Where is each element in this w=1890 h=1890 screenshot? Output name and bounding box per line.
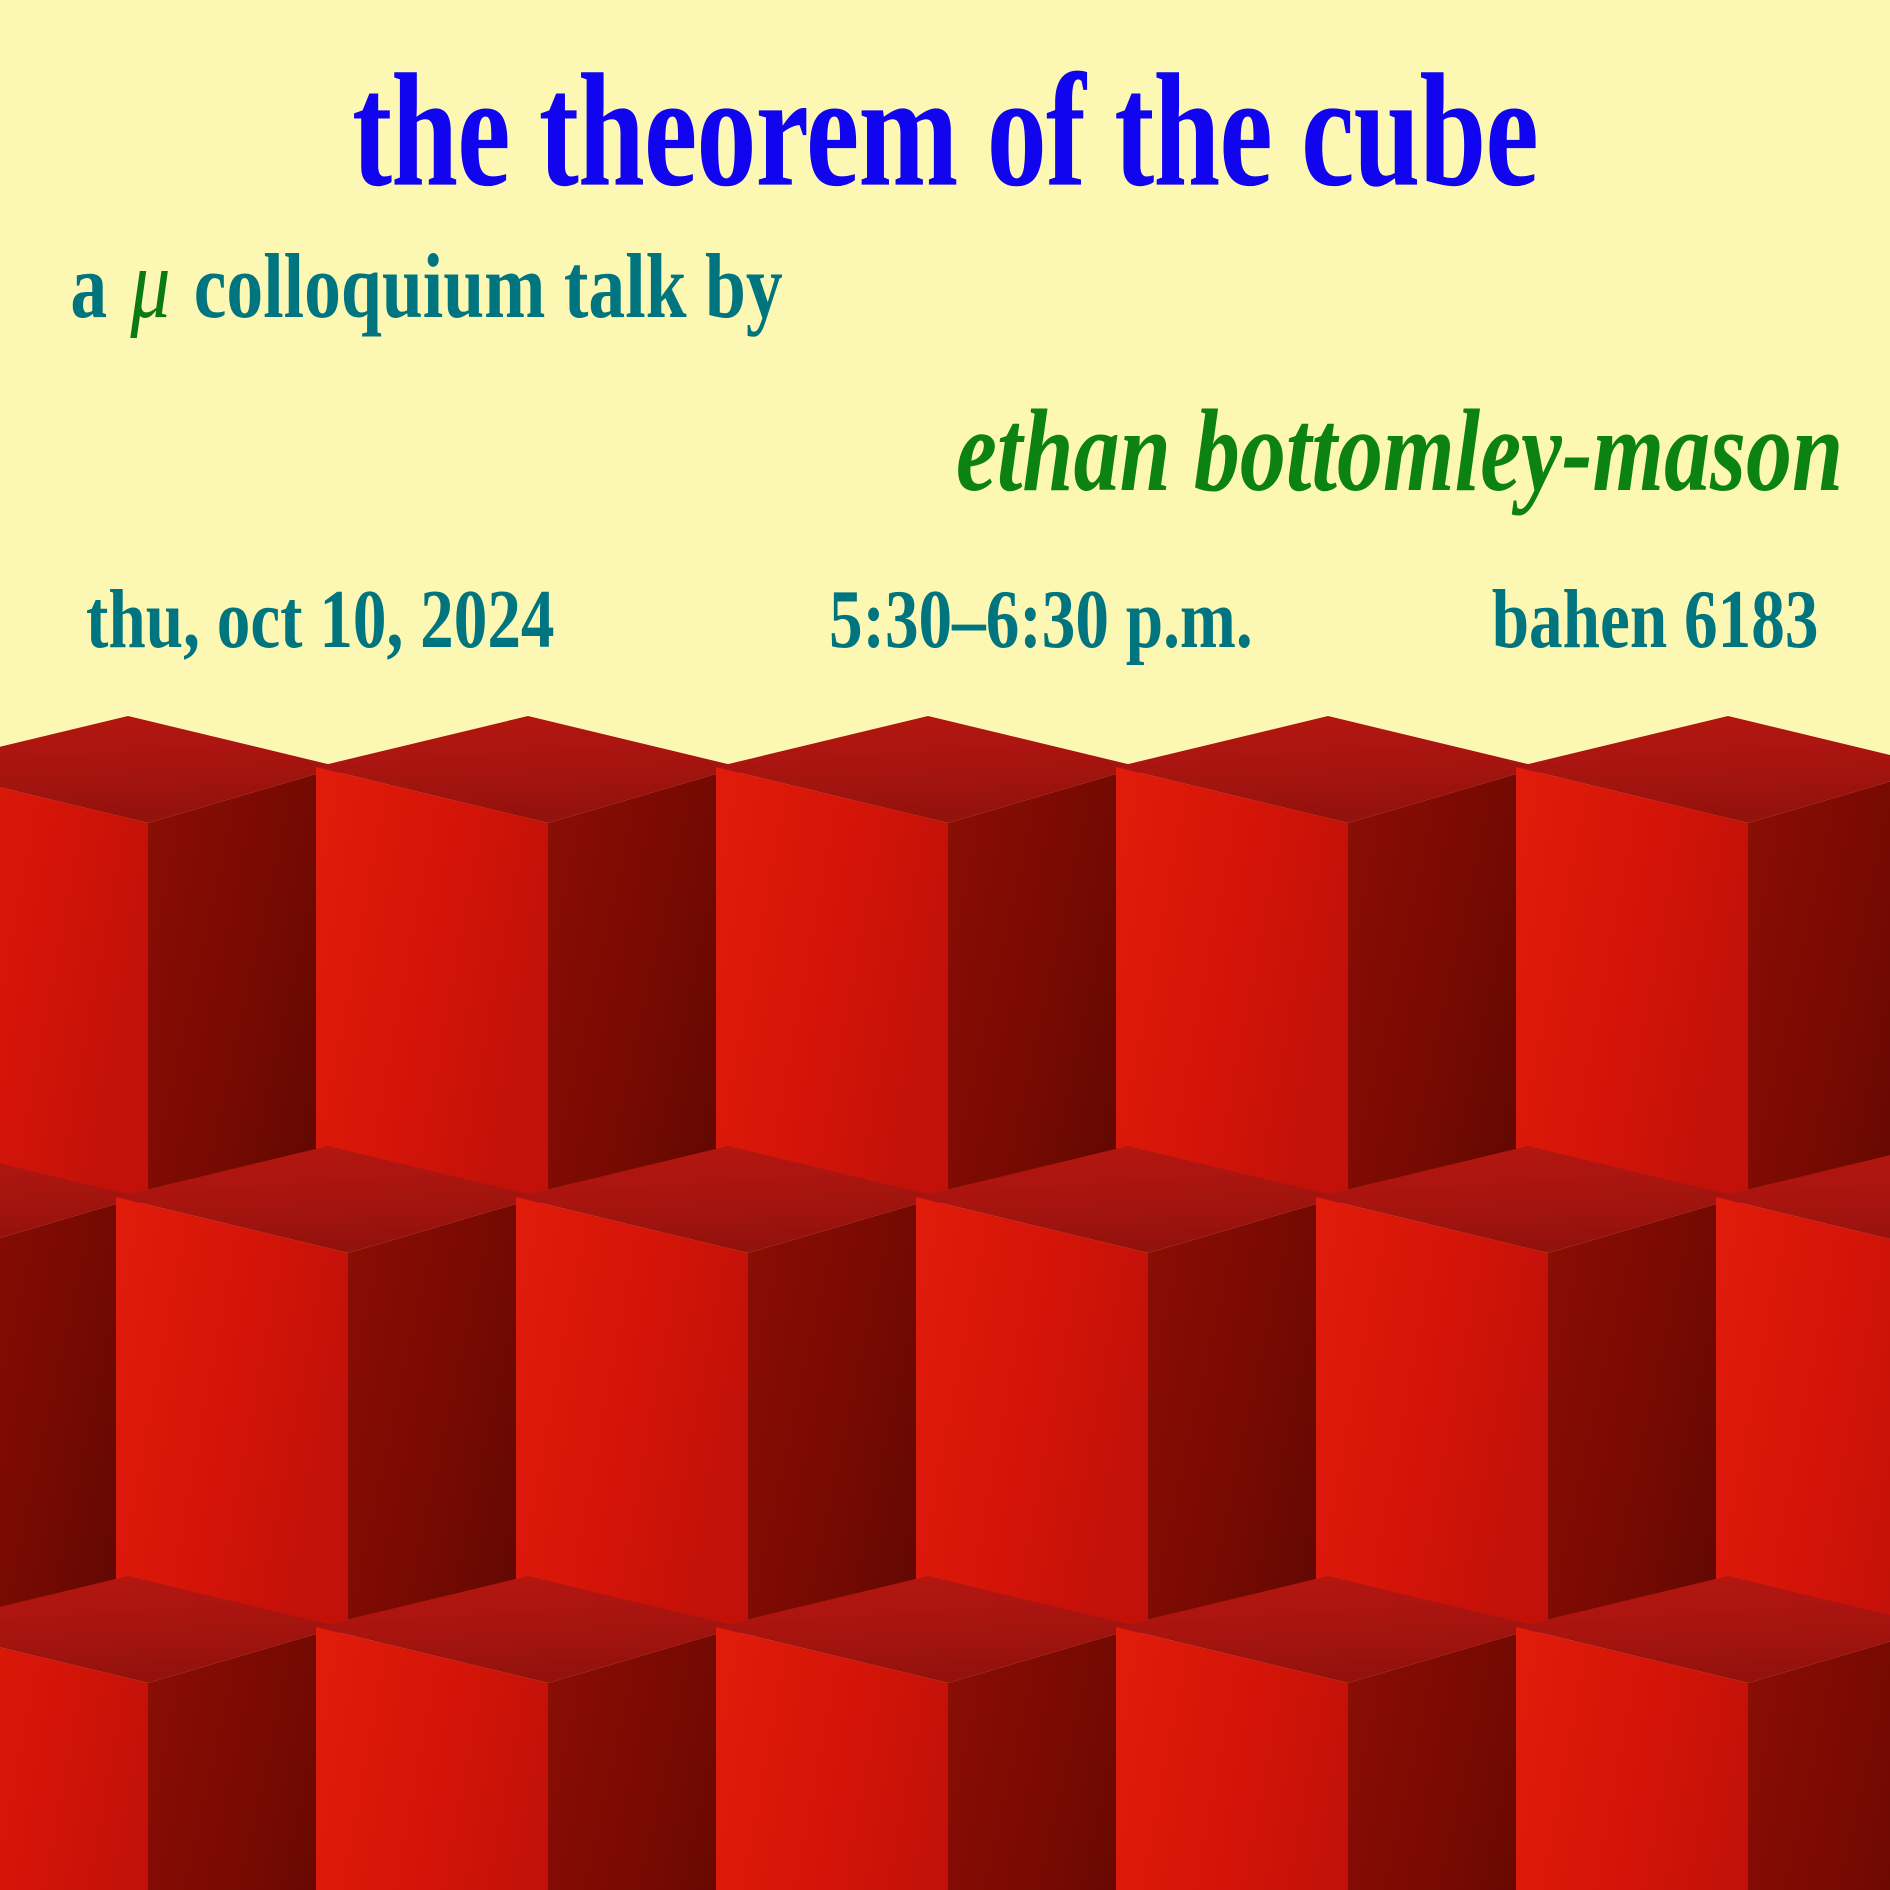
cube-face-right [148, 767, 340, 1203]
cube [716, 1576, 1140, 1890]
cube-face-left [116, 1197, 348, 1633]
cube [0, 716, 340, 1203]
cube [716, 716, 1140, 1203]
cube-face-left [716, 767, 948, 1203]
cube-face-left [516, 1197, 748, 1633]
cube-face-right [748, 1197, 940, 1633]
cube [1516, 716, 1890, 1203]
cube-face-left [1716, 1197, 1890, 1633]
event-date: thu, oct 10, 2024 [86, 578, 555, 662]
cube [116, 1146, 540, 1633]
event-details-row: thu, oct 10, 2024 5:30–6:30 p.m. bahen 6… [0, 510, 1890, 662]
cube [1716, 1146, 1890, 1633]
cube-face-left [316, 767, 548, 1203]
cube [1316, 1146, 1740, 1633]
cube-face-right [1548, 1197, 1740, 1633]
cube [316, 1576, 740, 1890]
cube [516, 1146, 940, 1633]
subtitle-after: colloquium talk by [175, 235, 782, 337]
cube-face-left [1516, 767, 1748, 1203]
event-time: 5:30–6:30 p.m. [829, 578, 1253, 662]
poster-text-block: the theorem of the cube a μ colloquium t… [0, 0, 1890, 662]
poster-canvas: the theorem of the cube a μ colloquium t… [0, 0, 1890, 1890]
cube-face-right [348, 1197, 540, 1633]
cube [1116, 716, 1540, 1203]
cube-face-right [1348, 767, 1540, 1203]
event-room: bahen 6183 [1491, 578, 1818, 662]
cube-face-right [548, 767, 740, 1203]
cube-face-left [0, 767, 148, 1203]
subtitle-line: a μ colloquium talk by [0, 196, 1512, 334]
cube [0, 1576, 340, 1890]
cube-face-left [1316, 1197, 1548, 1633]
cube [1116, 1576, 1540, 1890]
cube-face-left [1116, 767, 1348, 1203]
cube-face-right [1148, 1197, 1340, 1633]
mu-symbol: μ [126, 228, 176, 339]
subtitle-before: a [70, 235, 125, 337]
cube [316, 716, 740, 1203]
cube-face-right [948, 767, 1140, 1203]
page-title: the theorem of the cube [189, 0, 1701, 212]
cube [916, 1146, 1340, 1633]
cube [1516, 1576, 1890, 1890]
speaker-name: ethan bottomley-mason [416, 334, 1890, 510]
cube-face-right [1748, 767, 1890, 1203]
cube-face-left [916, 1197, 1148, 1633]
